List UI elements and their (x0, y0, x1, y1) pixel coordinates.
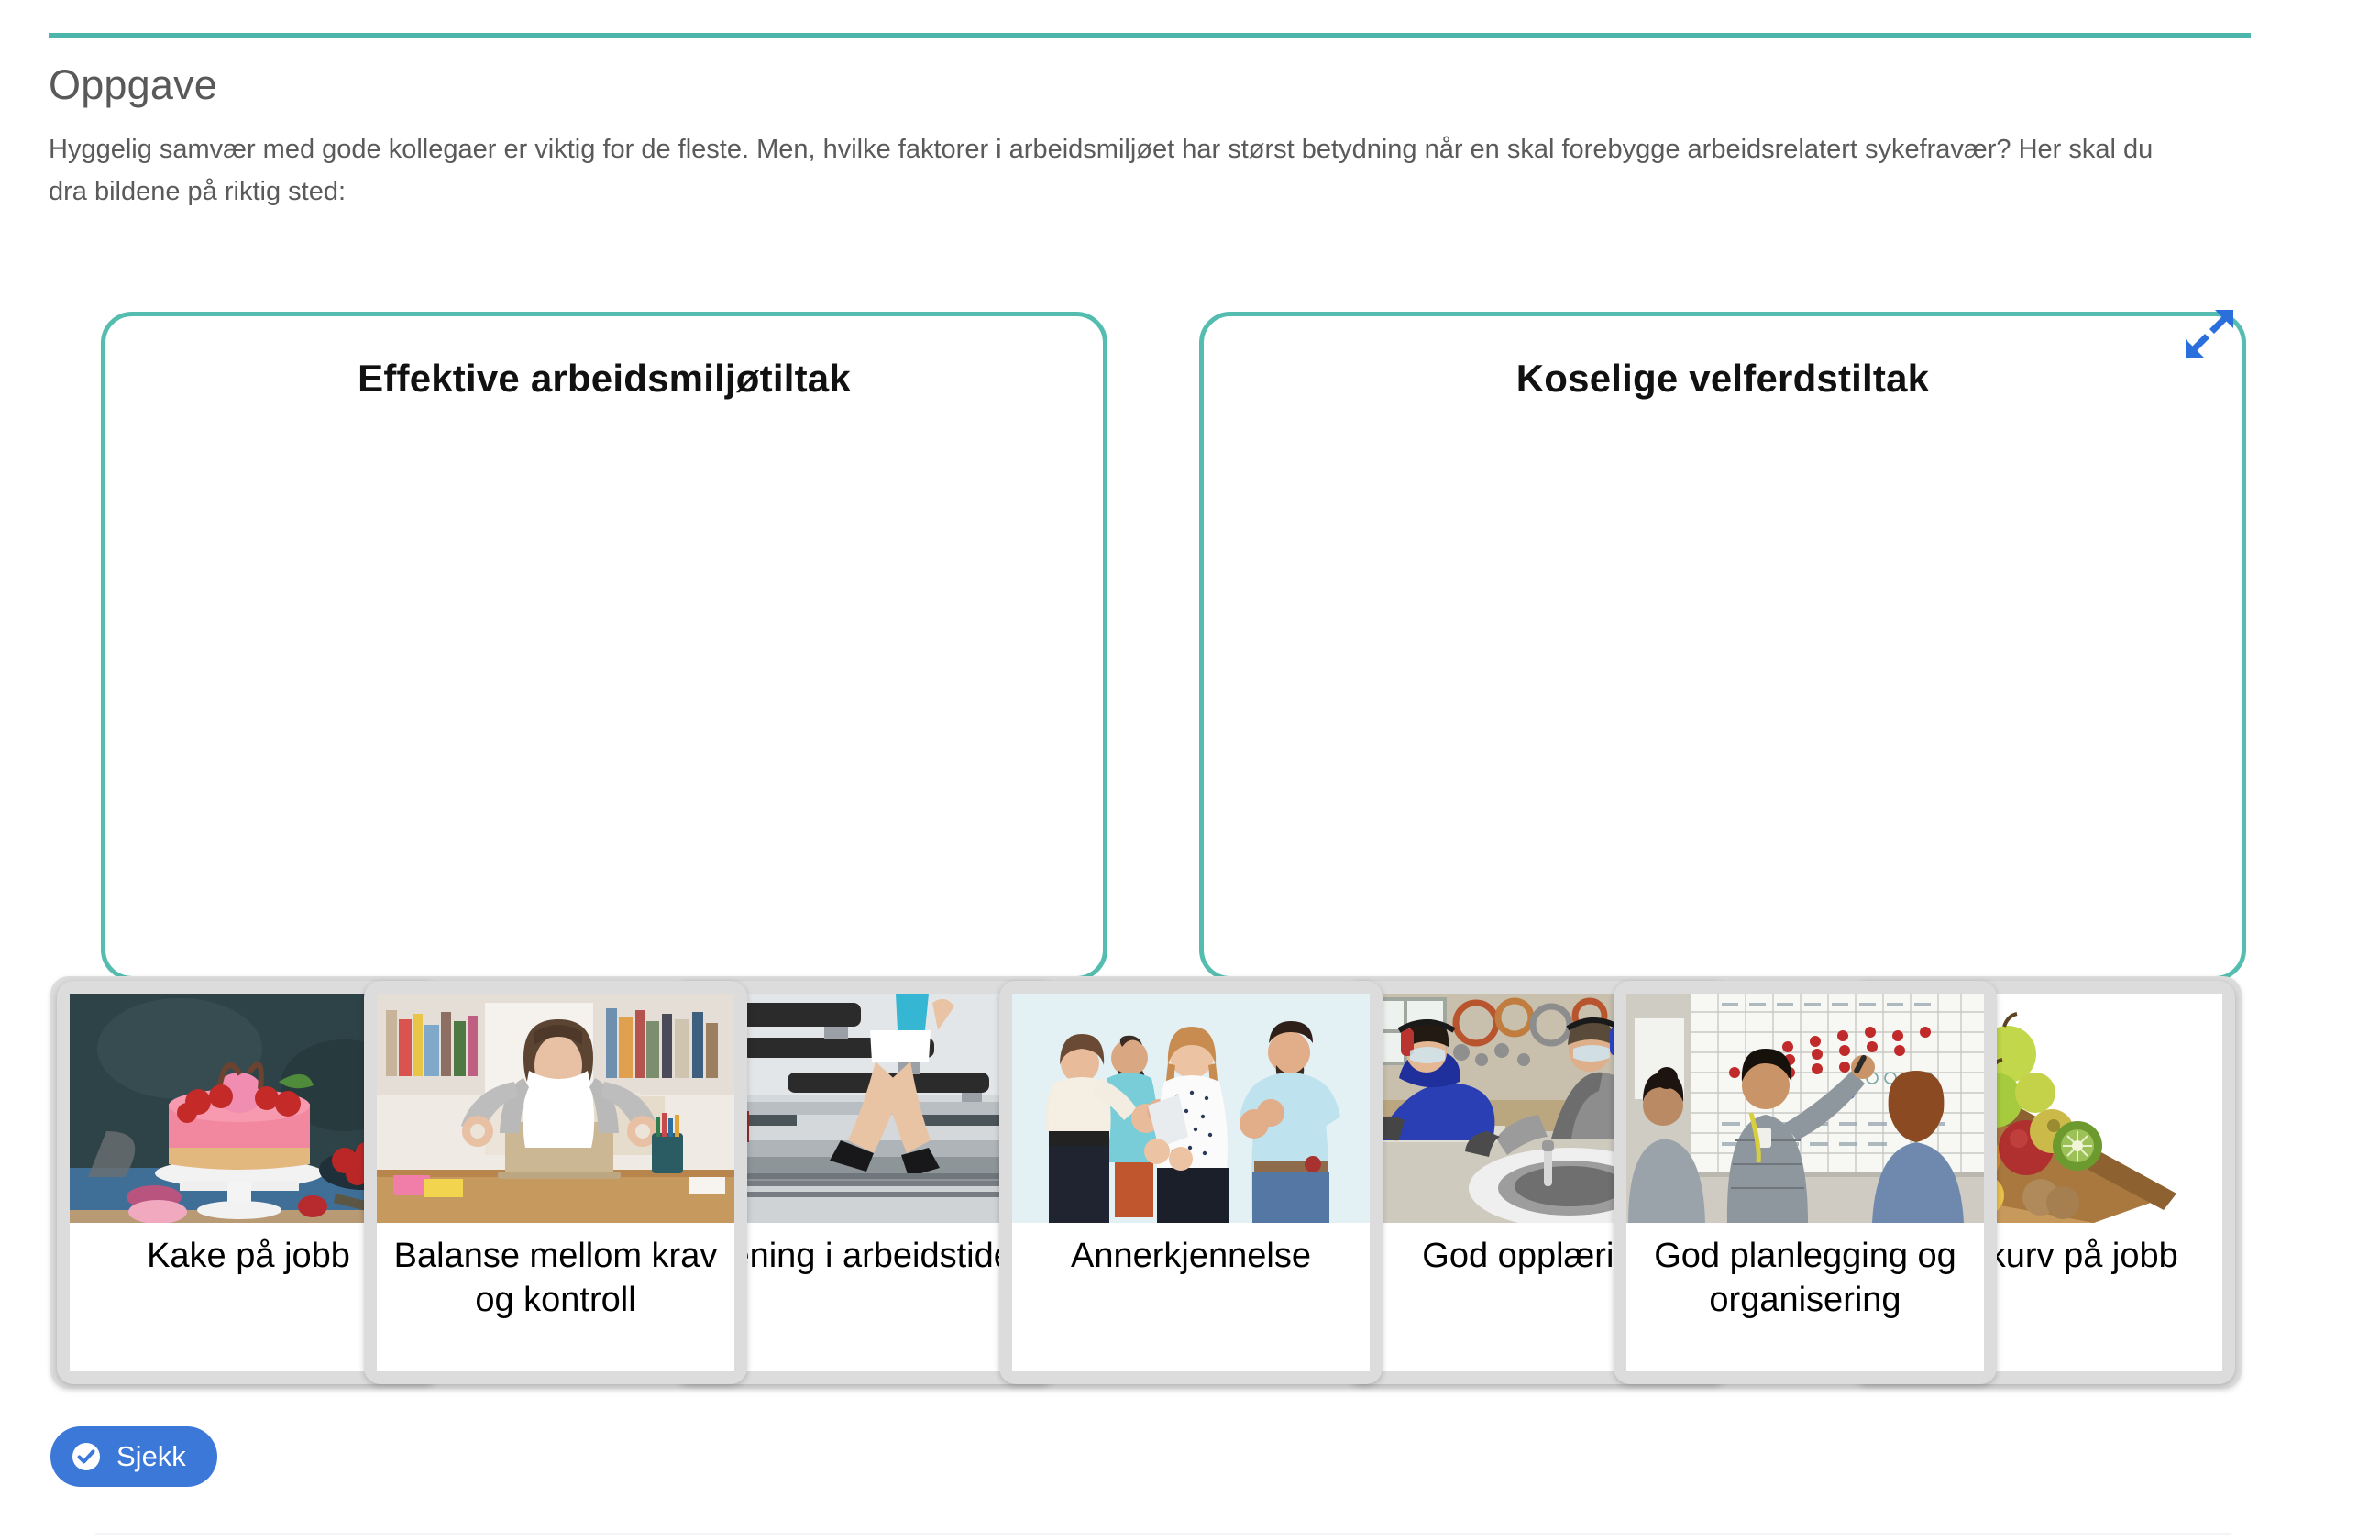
draggable-card[interactable]: Balanse mellom krav og kontroll (364, 981, 747, 1384)
drop-zone-title-left: Effektive arbeidsmiljøtiltak (105, 357, 1103, 401)
check-button-label: Sjekk (116, 1440, 186, 1473)
card-label: Balanse mellom krav og kontroll (377, 1223, 734, 1371)
draggable-card[interactable]: God planlegging og organisering (1614, 981, 1997, 1384)
drop-zone-effective-measures[interactable]: Effektive arbeidsmiljøtiltak (101, 312, 1107, 981)
card-label: Annerkjennelse (1012, 1223, 1370, 1371)
task-intro-text: Hyggelig samvær med gode kollegaer er vi… (49, 128, 2176, 213)
woman-meditating-at-desk-photo (377, 994, 734, 1223)
drop-zone-title-right: Koselige velferdstiltak (1204, 357, 2242, 401)
bottom-divider (95, 1533, 2231, 1535)
team-at-planning-board-photo (1626, 994, 1984, 1223)
check-button[interactable]: Sjekk (50, 1426, 217, 1487)
check-circle-icon (71, 1441, 102, 1472)
card-label: God planlegging og organisering (1626, 1223, 1984, 1371)
draggable-card[interactable]: Annerkjennelse (999, 981, 1383, 1384)
drop-zones-container: Effektive arbeidsmiljøtiltak Koselige ve… (101, 312, 2246, 981)
top-accent-rule (49, 33, 2251, 38)
colleagues-applauding-photo (1012, 994, 1370, 1223)
diagonal-resize-arrows-icon[interactable] (2184, 308, 2235, 359)
page-title: Oppgave (49, 61, 217, 109)
drop-zone-welfare-measures[interactable]: Koselige velferdstiltak (1199, 312, 2246, 981)
